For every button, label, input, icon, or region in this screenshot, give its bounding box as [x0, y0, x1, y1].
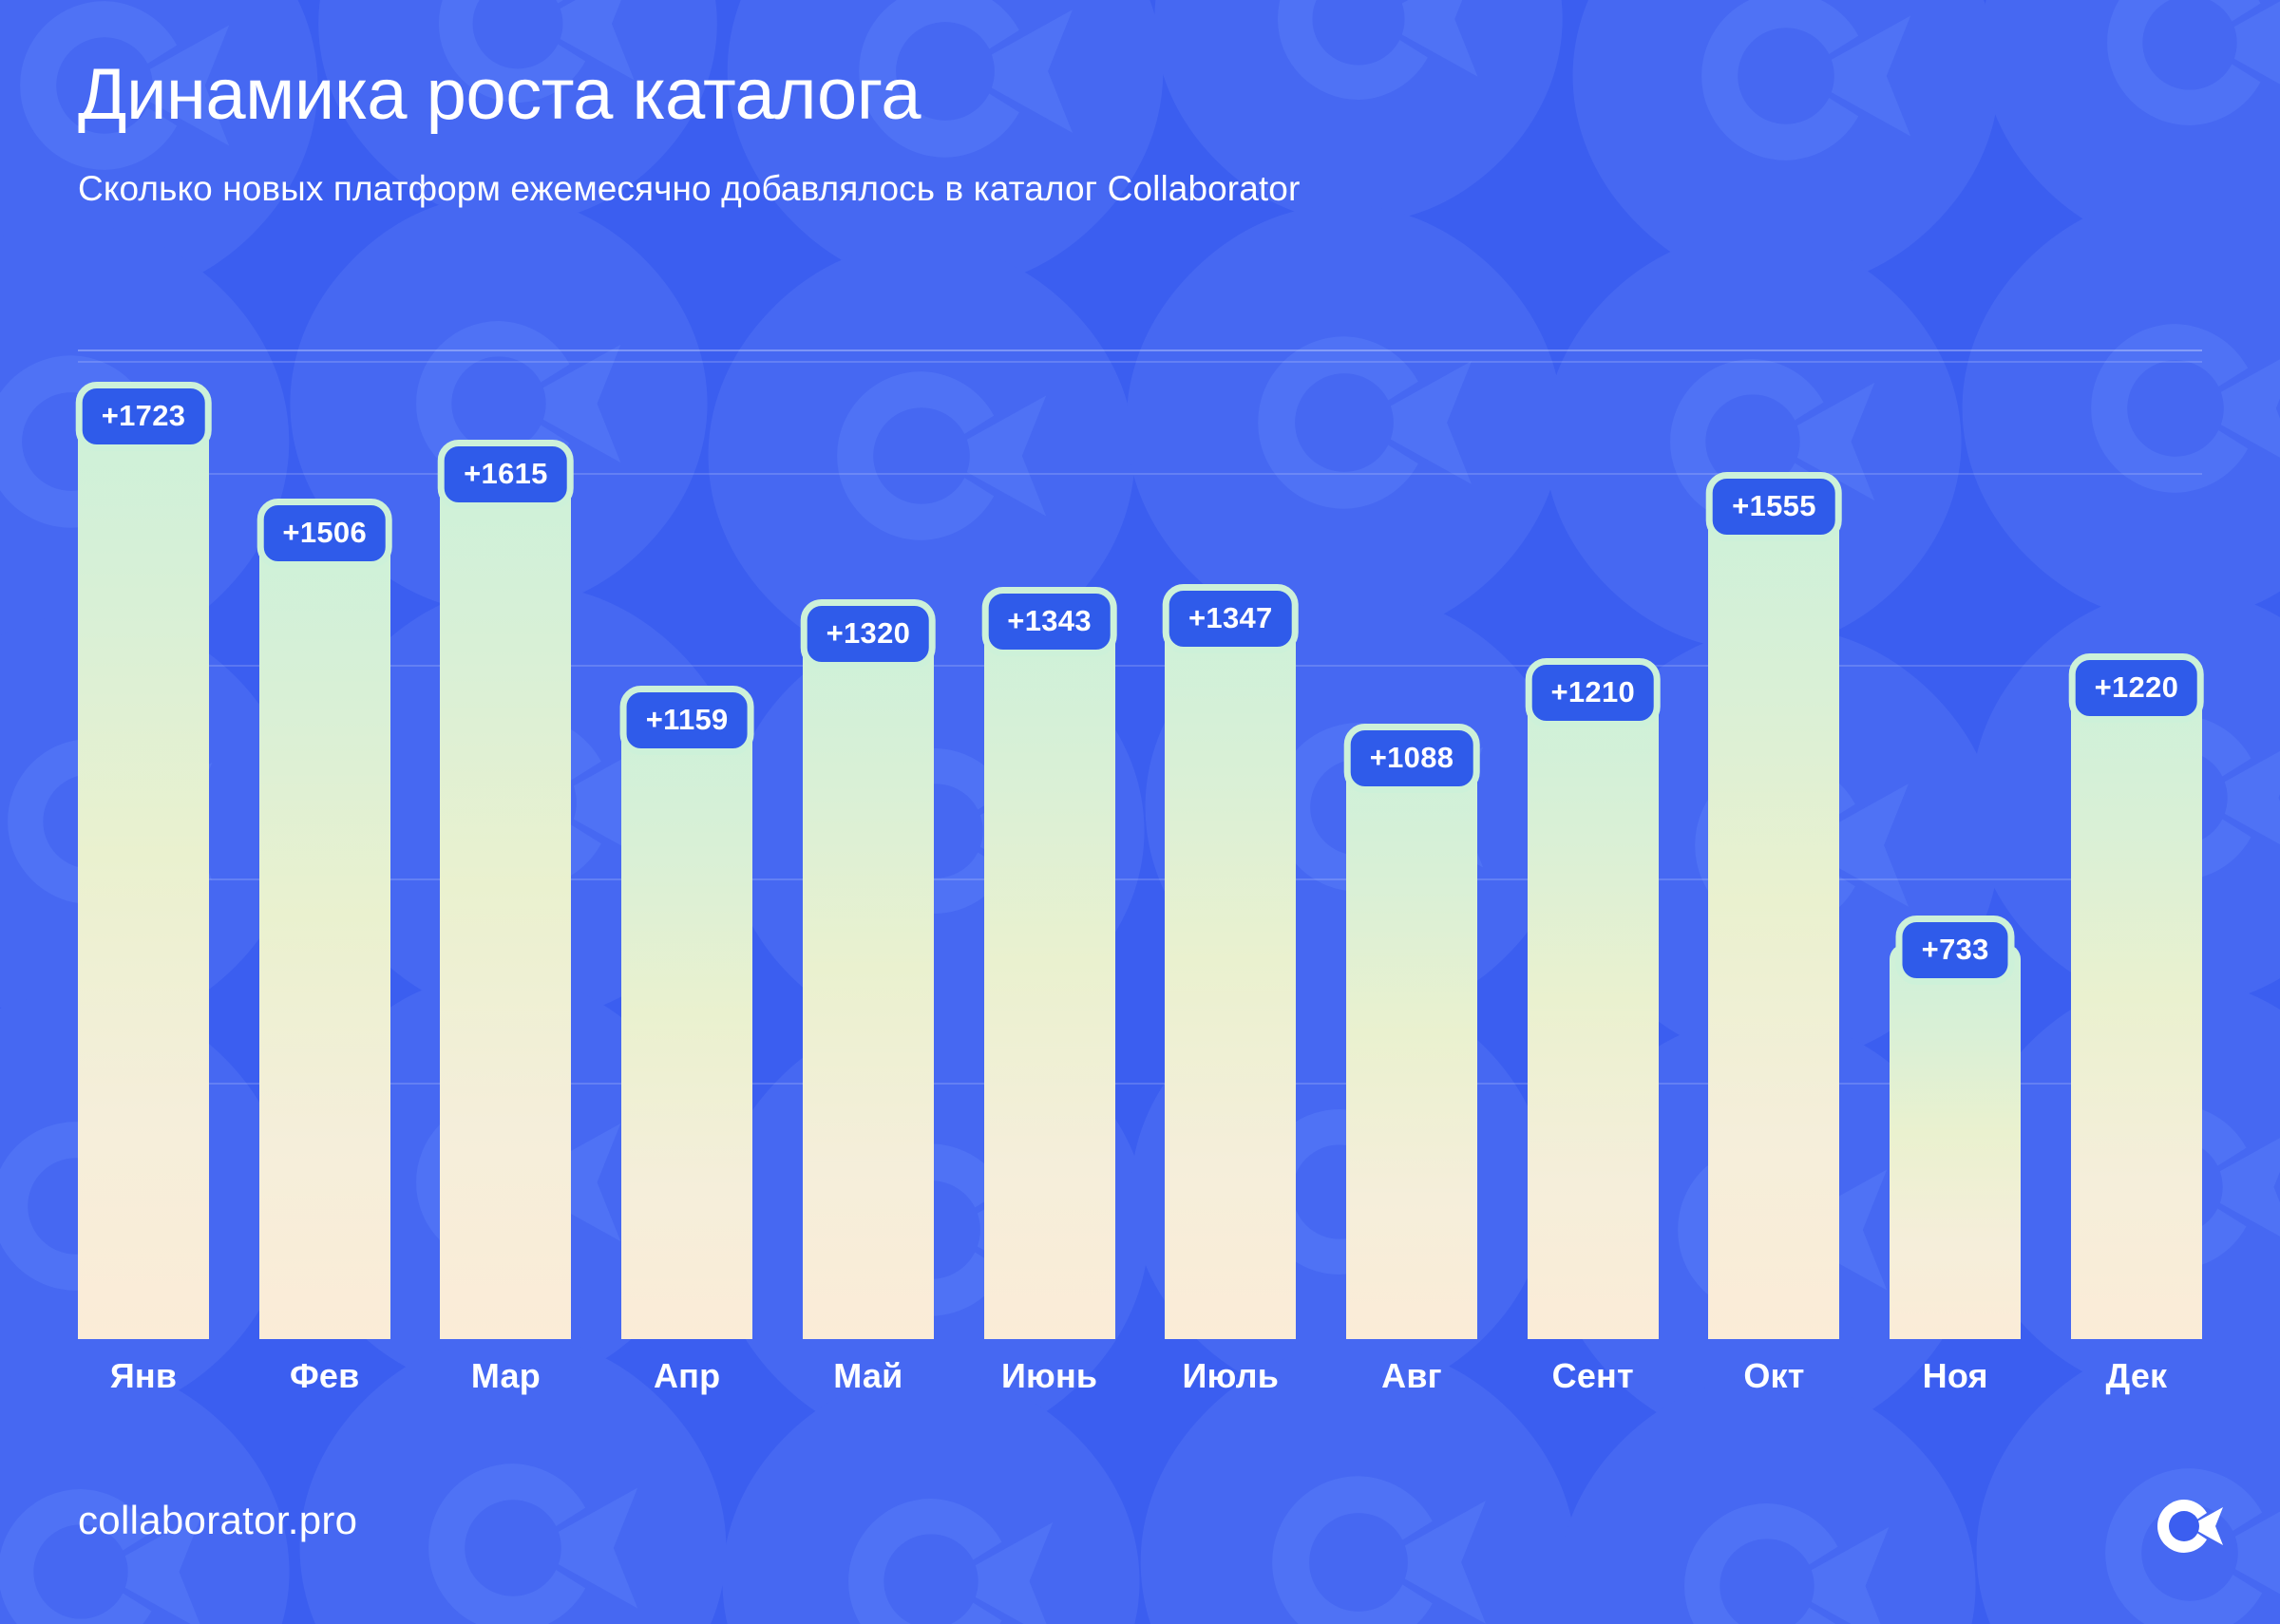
bar-slot: +1723	[78, 361, 209, 1339]
x-axis-tick: Мар	[440, 1356, 571, 1396]
bar-slot: +1615	[440, 361, 571, 1339]
bar-slot: +1506	[259, 361, 390, 1339]
bar-slot: +1210	[1528, 361, 1659, 1339]
bar[interactable]: +1506	[259, 527, 390, 1339]
bar-slot: +1555	[1708, 361, 1839, 1339]
bar-value-badge: +1088	[1344, 724, 1480, 793]
x-axis-tick: Июль	[1165, 1356, 1296, 1396]
chart-plot-area: +1723 +1506 +1615 +1159 +1320	[78, 361, 2202, 1339]
x-axis-tick: Июнь	[984, 1356, 1115, 1396]
bar[interactable]: +1210	[1528, 687, 1659, 1339]
bar-slot: +1347	[1165, 361, 1296, 1339]
footer-site-url: collaborator.pro	[78, 1498, 357, 1543]
bar[interactable]: +1320	[803, 628, 934, 1339]
x-axis-tick: Май	[803, 1356, 934, 1396]
collaborator-logo-icon	[2153, 1496, 2223, 1557]
bar-value-badge: +1555	[1706, 472, 1842, 541]
x-axis-tick: Сент	[1528, 1356, 1659, 1396]
bar-slot: +1088	[1346, 361, 1477, 1339]
bar-value-badge: +1210	[1525, 658, 1661, 727]
bar-value-badge: +1159	[620, 686, 754, 755]
bar[interactable]: +1088	[1346, 752, 1477, 1339]
bar[interactable]: +1220	[2071, 682, 2202, 1339]
bar[interactable]: +1347	[1165, 613, 1296, 1339]
bar-value-badge: +1723	[76, 382, 212, 451]
bar[interactable]: +1555	[1708, 500, 1839, 1339]
bar-value-badge: +1347	[1163, 584, 1299, 653]
bar-value-badge: +1343	[981, 587, 1117, 656]
x-axis-tick-labels: ЯнвФевМарАпрМайИюньИюльАвгСентОктНояДек	[78, 1356, 2202, 1396]
bar-value-badge: +1320	[801, 599, 937, 669]
header-divider	[78, 349, 2202, 351]
x-axis-tick: Окт	[1708, 1356, 1839, 1396]
bar-series: +1723 +1506 +1615 +1159 +1320	[78, 361, 2202, 1339]
bar[interactable]: +1615	[440, 468, 571, 1339]
bar[interactable]: +1343	[984, 615, 1115, 1339]
x-axis-tick: Ноя	[1890, 1356, 2021, 1396]
x-axis-tick: Фев	[259, 1356, 390, 1396]
bar-slot: +1159	[621, 361, 752, 1339]
bar-slot: +733	[1890, 361, 2021, 1339]
header: Динамика роста каталога Сколько новых пл…	[78, 55, 2206, 209]
bar-value-badge: +1506	[256, 499, 392, 568]
x-axis-tick: Авг	[1346, 1356, 1477, 1396]
bar-value-badge: +1615	[438, 440, 574, 509]
bar-value-badge: +1220	[2069, 653, 2205, 723]
x-axis-tick: Янв	[78, 1356, 209, 1396]
infographic-canvas: Динамика роста каталога Сколько новых пл…	[0, 0, 2280, 1624]
bar-slot: +1343	[984, 361, 1115, 1339]
bar[interactable]: +733	[1890, 944, 2021, 1339]
bar[interactable]: +1723	[78, 410, 209, 1339]
bar-value-badge: +733	[1896, 916, 2015, 985]
bar-slot: +1220	[2071, 361, 2202, 1339]
page-title: Динамика роста каталога	[78, 55, 2206, 135]
page-subtitle: Сколько новых платформ ежемесячно добавл…	[78, 169, 2206, 209]
bar[interactable]: +1159	[621, 714, 752, 1339]
x-axis-tick: Дек	[2071, 1356, 2202, 1396]
bar-slot: +1320	[803, 361, 934, 1339]
x-axis-tick: Апр	[621, 1356, 752, 1396]
